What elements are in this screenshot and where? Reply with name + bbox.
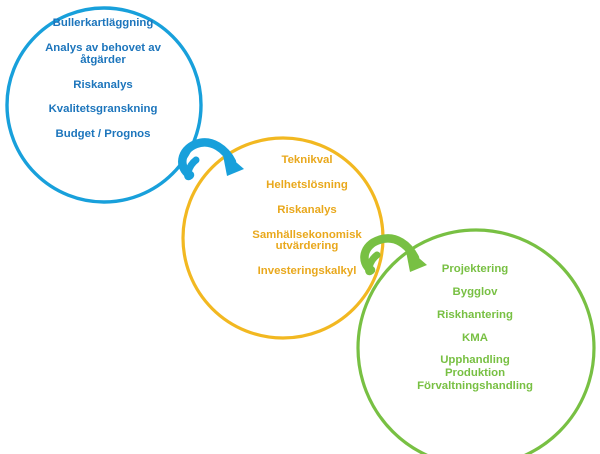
phase-green-label-group: Projektering Bygglov Riskhantering KMA U… [380,264,570,393]
phase-yellow-item-4: utvärdering [222,241,392,253]
phase-yellow-item-1: Helhetslösning [222,180,392,192]
phase-green-item-5: Produktion [380,368,570,380]
phase-blue-label-group: Bullerkartläggning Analys av behovet av … [8,18,198,141]
phase-blue-item-4: Kvalitetsgranskning [8,104,198,116]
phase-green-item-2: Riskhantering [380,310,570,322]
phase-blue-item-5: Budget / Prognos [8,129,198,141]
phase-blue-item-1: Analys av behovet av [8,43,198,55]
arrow-blue-tail [188,160,196,177]
process-diagram: Bullerkartläggning Analys av behovet av … [0,0,600,454]
phase-yellow-item-2: Riskanalys [222,205,392,217]
phase-green-item-1: Bygglov [380,287,570,299]
phase-green-item-0: Projektering [380,264,570,276]
phase-green-item-4: Upphandling [380,355,570,367]
phase-yellow-label-group: Teknikval Helhetslösning Riskanalys Samh… [222,155,392,278]
phase-blue-item-0: Bullerkartläggning [8,18,198,30]
phase-blue-item-3: Riskanalys [8,80,198,92]
phase-green-item-6: Förvaltningshandling [380,381,570,393]
phase-blue-item-2: åtgärder [8,55,198,67]
phase-yellow-item-0: Teknikval [222,155,392,167]
phase-yellow-item-5: Investeringskalkyl [222,266,392,278]
phase-green-item-3: KMA [380,333,570,345]
